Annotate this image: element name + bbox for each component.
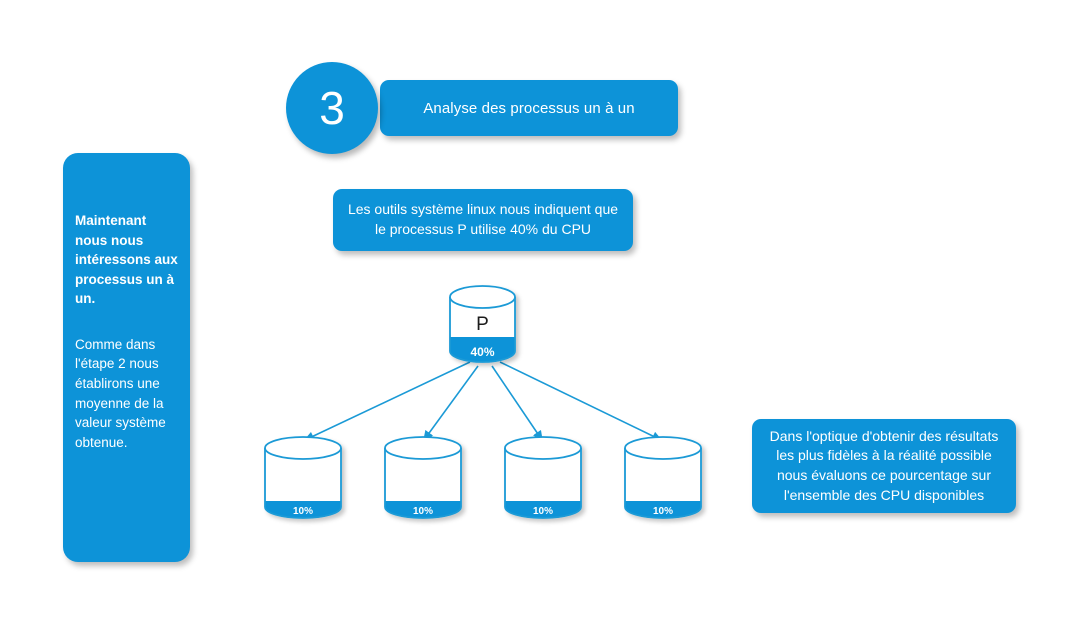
step-title-bar: Analyse des processus un à un bbox=[380, 80, 678, 136]
step-number-label: 3 bbox=[319, 85, 345, 131]
parent-cylinder-label: P bbox=[476, 314, 489, 335]
slide-canvas: 3 Analyse des processus un à un Maintena… bbox=[0, 0, 1076, 625]
child-cylinder-percent: 10% bbox=[653, 506, 673, 517]
child-process-cylinder: 10% bbox=[383, 437, 463, 531]
child-process-cylinder: 10% bbox=[623, 437, 703, 531]
child-cylinder-top-1 bbox=[265, 437, 341, 459]
step-title-label: Analyse des processus un à un bbox=[423, 100, 634, 117]
child-cylinder-percent: 10% bbox=[413, 506, 433, 517]
parent-cylinder-percent: 40% bbox=[470, 345, 494, 359]
parent-process-cylinder: P 40% bbox=[448, 286, 518, 377]
connector-arrow-1 bbox=[305, 362, 470, 440]
child-cylinder-percent: 10% bbox=[293, 506, 313, 517]
parent-cylinder-top bbox=[450, 286, 515, 308]
step-number-badge: 3 bbox=[286, 62, 378, 154]
child-cylinder-top-4 bbox=[625, 437, 701, 459]
connector-arrow-2 bbox=[424, 366, 478, 440]
child-process-cylinder: 10% bbox=[503, 437, 583, 531]
connector-arrow-4 bbox=[500, 362, 661, 440]
child-cylinder-percent: 10% bbox=[533, 506, 553, 517]
child-process-cylinder: 10% bbox=[263, 437, 343, 531]
child-cylinder-top-3 bbox=[505, 437, 581, 459]
connector-arrow-3 bbox=[492, 366, 542, 440]
child-cylinder-top-2 bbox=[385, 437, 461, 459]
connector-arrows bbox=[305, 362, 661, 440]
